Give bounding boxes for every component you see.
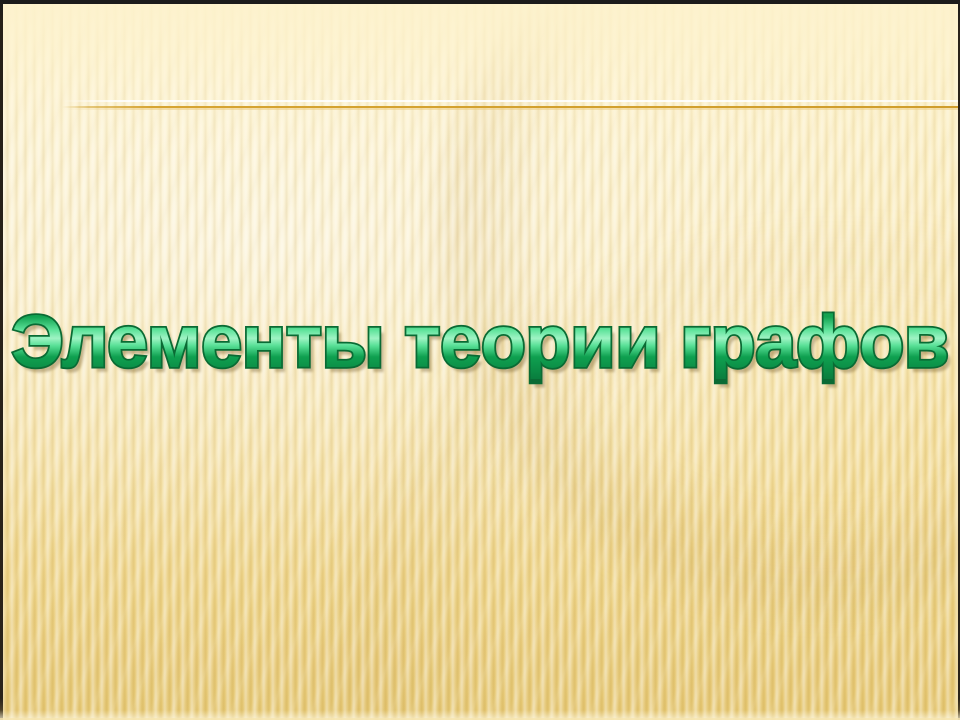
top-divider — [62, 98, 960, 110]
presentation-slide: Элементы теории графов Элементы теории г… — [0, 0, 960, 720]
frame-edge-left — [0, 0, 3, 720]
title-block: Элементы теории графов Элементы теории г… — [0, 292, 960, 392]
divider-highlight-line — [62, 100, 960, 102]
divider-soft-line — [62, 108, 960, 110]
frame-bottom-fade — [0, 710, 960, 718]
slide-title-text: Элементы теории графов — [11, 305, 949, 379]
frame-edge-top — [0, 0, 960, 4]
slide-title: Элементы теории графов Элементы теории г… — [11, 305, 949, 379]
